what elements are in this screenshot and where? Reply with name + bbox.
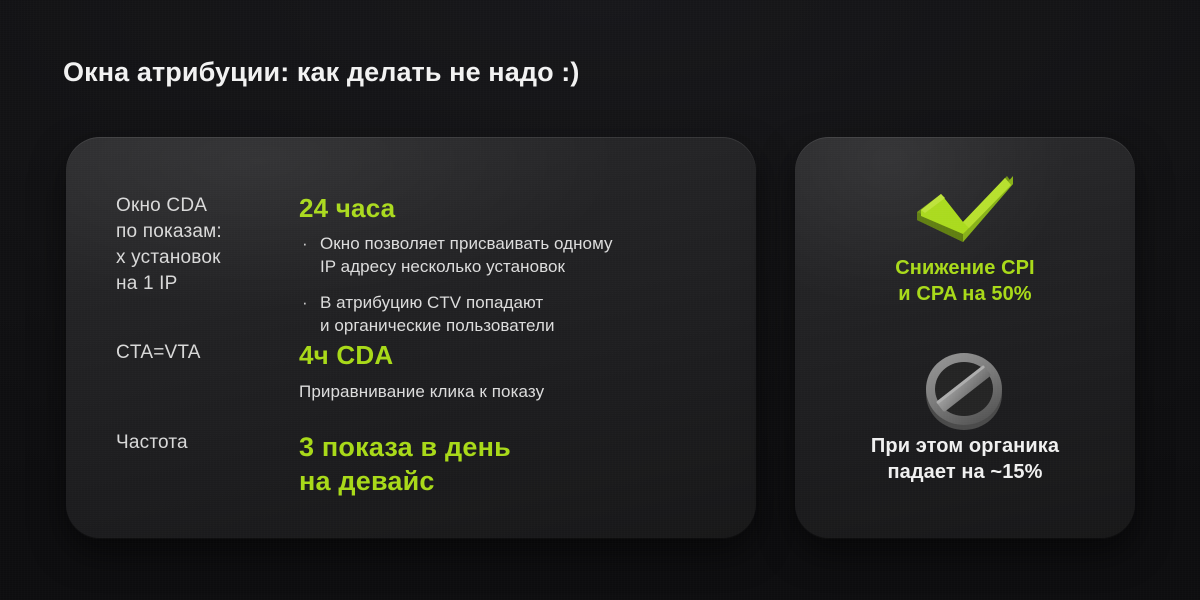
result-block-negative: При этом органика падает на ~15% bbox=[795, 345, 1135, 485]
row-heading-3-impressions: 3 показа в день на девайс bbox=[299, 430, 732, 498]
row-body-frequency: 3 показа в день на девайс bbox=[299, 430, 732, 498]
row-heading-4h-cda: 4ч CDA bbox=[299, 340, 732, 371]
list-item-text: В атрибуцию CTV попадают и органические … bbox=[320, 293, 555, 335]
result-text-organic-drop: При этом органика падает на ~15% bbox=[795, 433, 1135, 485]
attribution-settings-card: Окно CDA по показам: х установок на 1 IP… bbox=[66, 137, 756, 539]
row-body-cta-vta: 4ч CDA Приравнивание клика к показу bbox=[299, 340, 732, 403]
bullet-dot-icon: · bbox=[302, 232, 308, 255]
result-text-cpi-cpa: Снижение CPI и CPA на 50% bbox=[795, 255, 1135, 307]
list-item-text: Окно позволяет присваивать одному IP адр… bbox=[320, 234, 613, 276]
row-label-line: Окно CDA bbox=[116, 193, 316, 219]
row-subtext-click-equals-view: Приравнивание клика к показу bbox=[299, 380, 732, 403]
list-item: · В атрибуцию CTV попадают и органически… bbox=[299, 291, 732, 337]
row-body-cda-window: 24 часа · Окно позволяет присваивать одн… bbox=[299, 193, 732, 337]
row-label-frequency: Частота bbox=[116, 430, 316, 456]
bullet-dot-icon: · bbox=[302, 291, 308, 314]
row-heading-24-hours: 24 часа bbox=[299, 193, 732, 224]
prohibition-sign-3d-icon bbox=[795, 345, 1135, 433]
result-block-positive: Снижение CPI и CPA на 50% bbox=[795, 167, 1135, 307]
page-title: Окна атрибуции: как делать не надо :) bbox=[63, 57, 579, 88]
check-mark-3d-icon bbox=[795, 167, 1135, 255]
row-label-line: на 1 IP bbox=[116, 271, 316, 297]
list-item: · Окно позволяет присваивать одному IP а… bbox=[299, 232, 732, 278]
row-label-cda-window: Окно CDA по показам: х установок на 1 IP bbox=[116, 193, 316, 297]
bullet-list: · Окно позволяет присваивать одному IP а… bbox=[299, 232, 732, 337]
results-card: Снижение CPI и CPA на 50% bbox=[795, 137, 1135, 539]
row-label-line: х установок bbox=[116, 245, 316, 271]
row-label-cta-vta: CTA=VTA bbox=[116, 340, 316, 366]
row-label-line: по показам: bbox=[116, 219, 316, 245]
